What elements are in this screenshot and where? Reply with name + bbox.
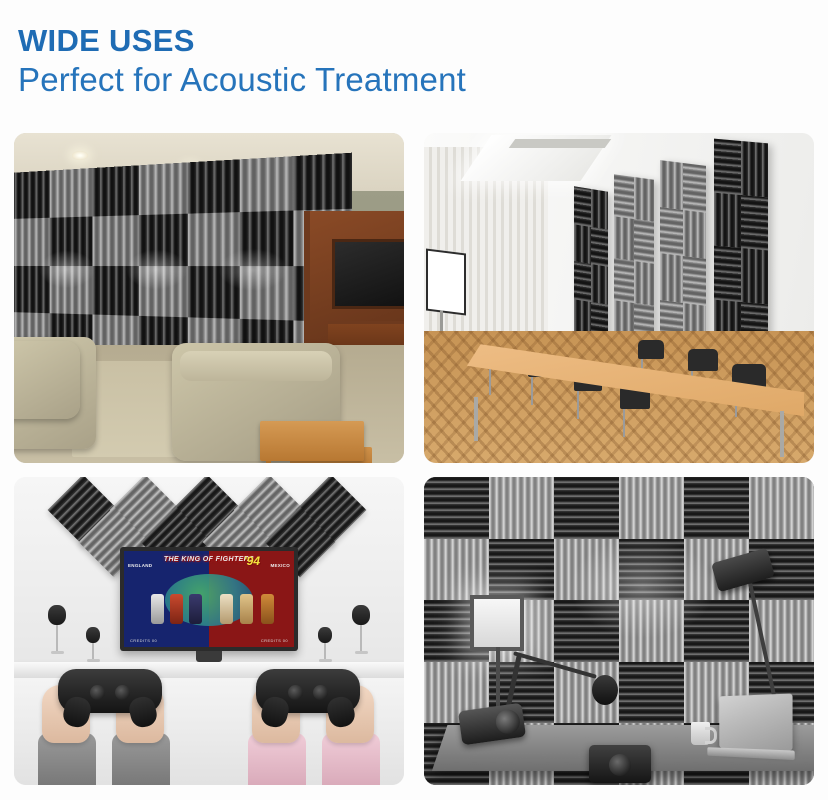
laptop bbox=[719, 694, 792, 751]
photo-grid: THE KING OF FIGHTERS '94 ENGLAND MEXICO … bbox=[14, 133, 814, 785]
page-title: WIDE USES Perfect for Acoustic Treatment bbox=[18, 22, 466, 100]
game-character bbox=[240, 594, 253, 624]
acoustic-panel bbox=[574, 186, 608, 341]
game-character bbox=[261, 594, 274, 624]
tv-stand bbox=[196, 651, 222, 662]
coffee-mug bbox=[691, 722, 710, 745]
heading-line-2: Perfect for Acoustic Treatment bbox=[18, 60, 466, 100]
acoustic-panel bbox=[614, 174, 654, 348]
photo-gaming-room: THE KING OF FIGHTERS '94 ENGLAND MEXICO … bbox=[14, 477, 404, 785]
game-character bbox=[220, 594, 233, 624]
team-name-right: MEXICO bbox=[270, 563, 290, 568]
photo-recording-studio bbox=[424, 477, 814, 785]
credits-left: CREDITS 00 bbox=[130, 638, 157, 643]
game-character bbox=[151, 594, 164, 624]
heading-line-1: WIDE USES bbox=[18, 22, 466, 60]
recliner-chair bbox=[14, 341, 80, 419]
whiteboard bbox=[426, 249, 466, 316]
microphone bbox=[592, 675, 618, 705]
tv-screen: THE KING OF FIGHTERS '94 ENGLAND MEXICO … bbox=[124, 551, 294, 647]
ceiling-light-track bbox=[509, 139, 612, 148]
dslr-camera bbox=[589, 745, 651, 783]
nesting-table bbox=[260, 421, 364, 461]
credits-right: CREDITS 00 bbox=[261, 638, 288, 643]
game-character bbox=[189, 594, 202, 624]
chair bbox=[688, 349, 718, 371]
team-name-left: ENGLAND bbox=[128, 563, 152, 568]
speaker bbox=[86, 627, 100, 662]
speaker bbox=[48, 605, 66, 654]
speaker bbox=[352, 605, 370, 654]
television: THE KING OF FIGHTERS '94 ENGLAND MEXICO … bbox=[120, 547, 298, 651]
television bbox=[332, 239, 404, 309]
acoustic-panel bbox=[714, 139, 768, 358]
led-panel-light bbox=[470, 595, 524, 651]
product-feature-page: WIDE USES Perfect for Acoustic Treatment bbox=[0, 0, 828, 800]
acoustic-panel bbox=[660, 160, 706, 352]
game-controller[interactable] bbox=[58, 669, 162, 713]
speaker bbox=[318, 627, 332, 662]
game-title: THE KING OF FIGHTERS bbox=[124, 556, 294, 563]
downlight-icon bbox=[72, 151, 88, 160]
photo-home-theater bbox=[14, 133, 404, 463]
table-leg bbox=[780, 411, 784, 457]
table-leg bbox=[474, 397, 478, 441]
game-year-badge: '94 bbox=[244, 554, 260, 568]
game-controller[interactable] bbox=[256, 669, 360, 713]
chair bbox=[638, 340, 664, 359]
game-character bbox=[170, 594, 183, 624]
photo-conference-room bbox=[424, 133, 814, 463]
